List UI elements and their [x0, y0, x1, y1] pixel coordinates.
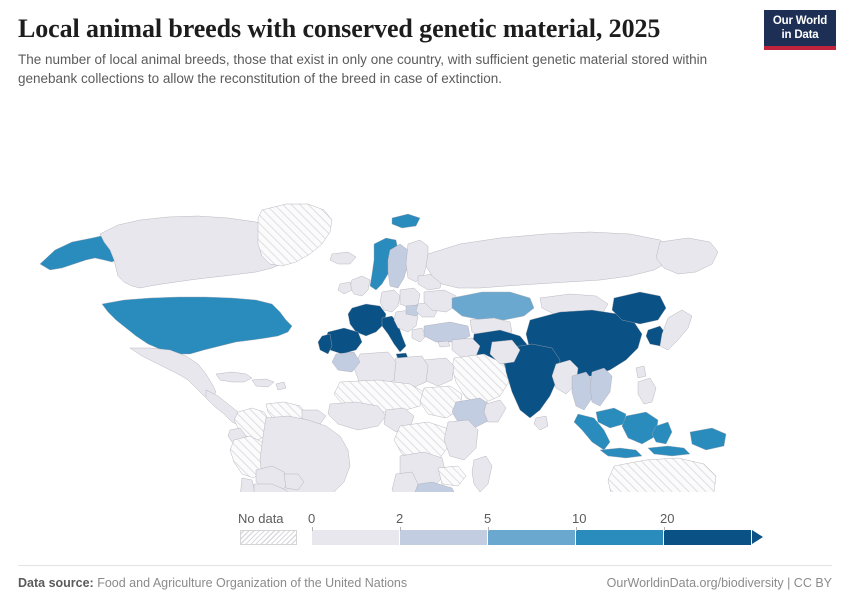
map-country-srilanka[interactable] [534, 416, 548, 430]
legend-color-ramp[interactable] [312, 530, 763, 545]
legend-tickmark-2 [488, 527, 489, 531]
map-country-uk[interactable] [350, 276, 370, 296]
data-source: Data source: Food and Agriculture Organi… [18, 576, 407, 590]
map-country-philippines[interactable] [638, 378, 656, 404]
map-country-germany[interactable] [380, 290, 400, 312]
map-country-greenland[interactable] [258, 204, 332, 266]
map-country-kazakhstan[interactable] [452, 292, 534, 320]
map-country-iceland[interactable] [330, 252, 356, 264]
map-country-malaysia[interactable] [596, 408, 626, 428]
map-country-portugal[interactable] [318, 334, 332, 354]
legend-tick-labels: No data 0 2 5 10 20 [238, 511, 618, 528]
legend-tickmark-1 [400, 527, 401, 531]
map-country-russia[interactable] [426, 232, 672, 288]
page-title: Local animal breeds with conserved genet… [18, 14, 832, 43]
world-map[interactable]: No data 0 2 5 10 20 [0, 92, 850, 565]
legend-open-ended-arrow [752, 530, 763, 544]
map-country-taiwan[interactable] [636, 366, 646, 378]
legend-no-data-swatch[interactable] [240, 530, 297, 545]
legend-no-data-label: No data [238, 511, 284, 526]
chart-frame: Local animal breeds with conserved genet… [0, 0, 850, 600]
owid-logo-line1: Our World [767, 15, 833, 29]
legend-tick-4: 20 [660, 511, 674, 526]
map-country-java[interactable] [600, 448, 642, 458]
legend-tick-1: 2 [396, 511, 403, 526]
map-country-borneo[interactable] [622, 412, 658, 444]
map-country-mexico[interactable] [130, 348, 216, 398]
data-source-label: Data source: [18, 576, 94, 590]
chart-header: Local animal breeds with conserved genet… [0, 0, 850, 88]
legend-bin-2[interactable] [488, 530, 576, 545]
chart-subtitle: The number of local animal breeds, those… [18, 51, 748, 88]
map-country-svalbard[interactable] [392, 214, 420, 228]
map-country-australia[interactable] [608, 458, 716, 492]
map-country-vietnam[interactable] [590, 368, 612, 406]
map-country-eastafrica[interactable] [444, 420, 478, 460]
map-country-caribbean-small[interactable] [276, 382, 286, 390]
map-country-png[interactable] [690, 428, 726, 450]
chart-footer: Data source: Food and Agriculture Organi… [18, 565, 832, 600]
legend-tickmark-4 [664, 527, 665, 531]
map-country-cyprus[interactable] [438, 341, 450, 347]
attribution-link[interactable]: OurWorldinData.org/biodiversity | CC BY [607, 576, 832, 590]
map-country-indonesiaeast[interactable] [648, 446, 690, 456]
map-country-westafrica[interactable] [328, 402, 386, 430]
legend-bin-1[interactable] [400, 530, 488, 545]
map-country-madagascar[interactable] [472, 456, 492, 492]
world-map-svg[interactable] [0, 92, 850, 492]
legend-bin-4[interactable] [664, 530, 752, 545]
map-legend: No data 0 2 5 10 20 [238, 511, 618, 557]
map-country-sweden[interactable] [388, 244, 408, 288]
legend-tickmark-0 [312, 527, 313, 531]
map-country-hispaniola[interactable] [252, 379, 274, 387]
map-country-ireland[interactable] [338, 282, 352, 294]
legend-swatches [238, 530, 618, 546]
legend-tick-0: 0 [308, 511, 315, 526]
map-country-zimbabwe[interactable] [438, 466, 466, 486]
map-country-cuba[interactable] [216, 372, 252, 382]
map-country-japan[interactable] [660, 310, 692, 350]
legend-bin-0[interactable] [312, 530, 400, 545]
map-country-usa[interactable] [102, 297, 292, 354]
legend-bin-3[interactable] [576, 530, 664, 545]
legend-tick-2: 5 [484, 511, 491, 526]
legend-tickmark-3 [576, 527, 577, 531]
map-country-russiafareast[interactable] [656, 238, 718, 274]
legend-tick-3: 10 [572, 511, 586, 526]
owid-logo[interactable]: Our World in Data [764, 10, 836, 50]
data-source-value: Food and Agriculture Organization of the… [97, 576, 407, 590]
owid-logo-line2: in Data [767, 29, 833, 43]
